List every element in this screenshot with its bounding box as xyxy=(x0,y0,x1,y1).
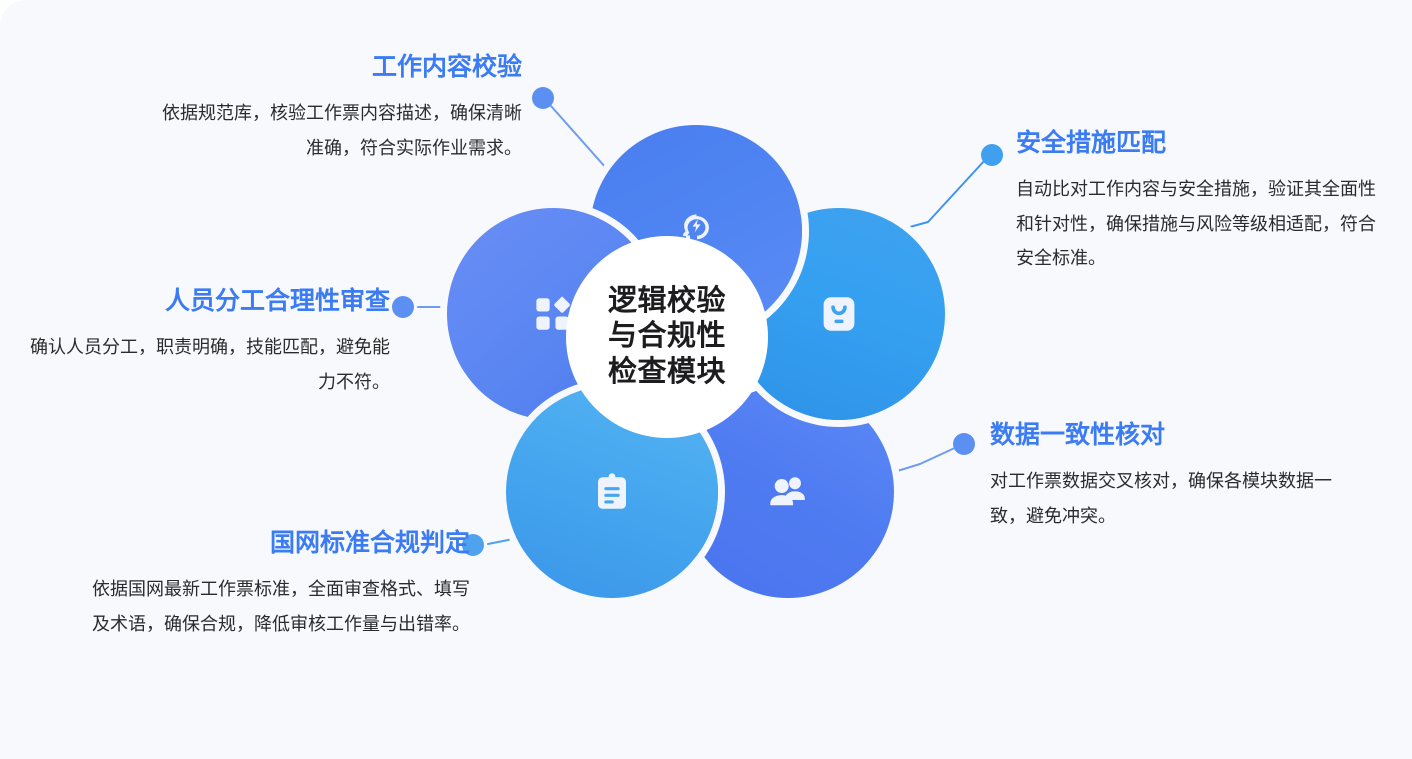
connector-dot-work-content xyxy=(532,87,554,109)
feature-title: 人员分工合理性审查 xyxy=(8,286,390,316)
feature-sgcc-standard-compliance[interactable]: 国网标准合规判定 依据国网最新工作票标准，全面审查格式、填写及术语，确保合规，降… xyxy=(92,528,470,641)
clipboard-icon xyxy=(591,471,633,513)
feature-description: 对工作票数据交叉核对，确保各模块数据一致，避免冲突。 xyxy=(990,464,1358,533)
feature-data-consistency-check[interactable]: 数据一致性核对 对工作票数据交叉核对，确保各模块数据一致，避免冲突。 xyxy=(990,420,1358,533)
hub-center: 逻辑校验 与合规性 检查模块 xyxy=(566,236,768,438)
connector-dot-staff xyxy=(392,296,414,318)
feature-work-content-verification[interactable]: 工作内容校验 依据规范库，核验工作票内容描述，确保清晰准确，符合实际作业需求。 xyxy=(128,52,522,165)
feature-description: 依据规范库，核验工作票内容描述，确保清晰准确，符合实际作业需求。 xyxy=(128,96,522,165)
users-icon xyxy=(767,471,809,513)
feature-safety-measure-matching[interactable]: 安全措施匹配 自动比对工作内容与安全措施，验证其全面性和针对性，确保措施与风险等… xyxy=(1016,128,1388,276)
feature-description: 确认人员分工，职责明确，技能匹配，避免能力不符。 xyxy=(8,330,390,399)
hub-title-line-1: 逻辑校验 xyxy=(608,284,726,319)
connector-dot-data xyxy=(953,433,975,455)
hub-title-line-3: 检查模块 xyxy=(608,355,726,390)
feature-title: 国网标准合规判定 xyxy=(92,528,470,558)
feature-title: 工作内容校验 xyxy=(128,52,522,82)
connector-dot-safety xyxy=(981,144,1003,166)
infographic-canvas: 逻辑校验 与合规性 检查模块 工作内容校验 依据规范库，核验工作票内容描述，确保… xyxy=(0,0,1412,759)
feature-title: 安全措施匹配 xyxy=(1016,128,1388,158)
petal-cluster: 逻辑校验 与合规性 检查模块 xyxy=(436,108,896,568)
hub-title-line-2: 与合规性 xyxy=(608,319,726,354)
safety-badge-icon xyxy=(818,293,860,335)
feature-description: 自动比对工作内容与安全措施，验证其全面性和针对性，确保措施与风险等级相适配，符合… xyxy=(1016,172,1388,276)
feature-staff-assignment-review[interactable]: 人员分工合理性审查 确认人员分工，职责明确，技能匹配，避免能力不符。 xyxy=(8,286,390,399)
feature-title: 数据一致性核对 xyxy=(990,420,1358,450)
feature-description: 依据国网最新工作票标准，全面审查格式、填写及术语，确保合规，降低审核工作量与出错… xyxy=(92,572,470,641)
